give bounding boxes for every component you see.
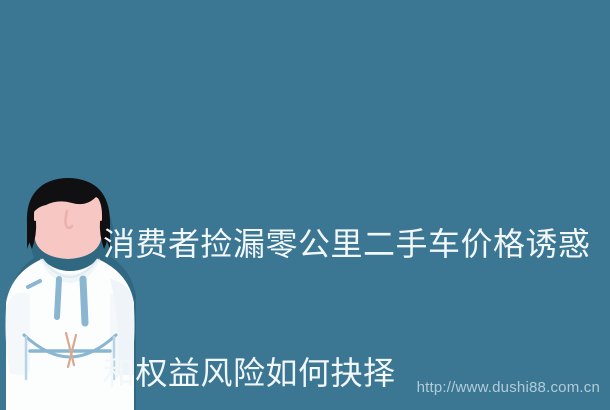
article-banner-image: 消费者捡漏零公里二手车价格诱惑 和权益风险如何抉择 http://www.dus… — [0, 0, 610, 410]
headline-line-1: 消费者捡漏零公里二手车价格诱惑 — [103, 223, 595, 266]
drawstring-right — [83, 279, 85, 323]
watermark-url: http://www.dushi88.com.cn — [417, 379, 600, 396]
page-title: 消费者捡漏零公里二手车价格诱惑 和权益风险如何抉择 — [103, 137, 595, 410]
drawstring-left — [57, 279, 59, 317]
